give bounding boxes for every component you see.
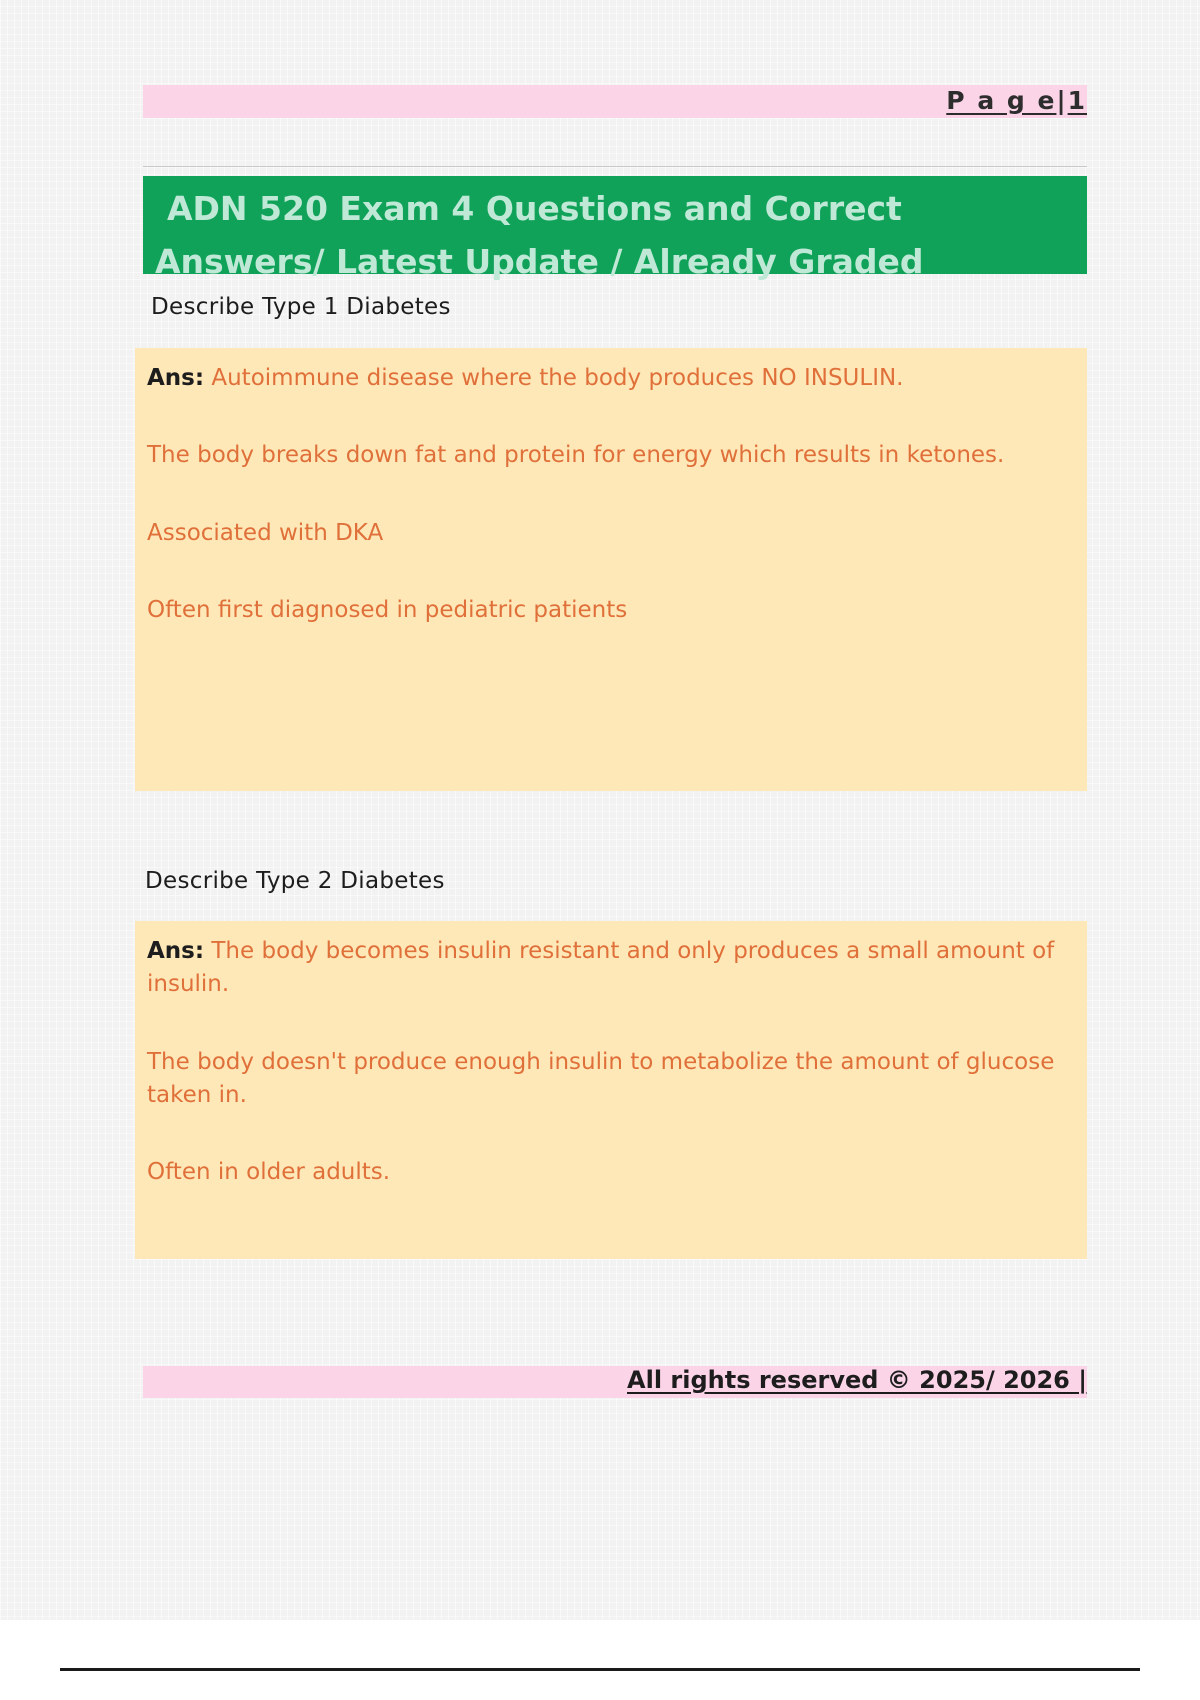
answer-1-paragraph-1: Ans: Autoimmune disease where the body p… — [147, 362, 1063, 395]
answer-1-paragraph-3: Associated with DKA — [147, 517, 1063, 550]
page-label: P a g e — [946, 86, 1056, 115]
footer-copyright: All rights reserved © 2025/ 2026 | — [627, 1366, 1087, 1394]
answer-1-paragraph-2: The body breaks down fat and protein for… — [147, 439, 1063, 472]
answer-box-2: Ans: The body becomes insulin resistant … — [135, 921, 1087, 1259]
answer-2-label: Ans: — [147, 938, 204, 964]
header-separator: | — [1056, 86, 1067, 115]
header-divider — [143, 166, 1087, 167]
title-banner: ADN 520 Exam 4 Questions and Correct Ans… — [143, 176, 1087, 274]
bottom-rule — [60, 1668, 1140, 1671]
page-content: P a g e|1 ADN 520 Exam 4 Questions and C… — [143, 0, 1087, 1620]
answer-box-1: Ans: Autoimmune disease where the body p… — [135, 348, 1087, 791]
answer-2-body: Ans: The body becomes insulin resistant … — [141, 935, 1063, 1190]
page-header: P a g e|1 — [946, 86, 1087, 115]
title-line-2: Answers/ Latest Update / Already Graded — [155, 235, 1071, 288]
title-line-1: ADN 520 Exam 4 Questions and Correct — [167, 182, 1071, 235]
page-number: 1 — [1068, 86, 1087, 115]
bottom-white-strip — [0, 1620, 1200, 1700]
answer-2-paragraph-2: The body doesn't produce enough insulin … — [147, 1046, 1063, 1113]
answer-2-paragraph-3: Often in older adults. — [147, 1156, 1063, 1189]
question-2: Describe Type 2 Diabetes — [145, 868, 445, 894]
answer-2-text-1: The body becomes insulin resistant and o… — [147, 938, 1054, 997]
answer-2-paragraph-1: Ans: The body becomes insulin resistant … — [147, 935, 1063, 1002]
document-page: P a g e|1 ADN 520 Exam 4 Questions and C… — [0, 0, 1200, 1620]
answer-1-body: Ans: Autoimmune disease where the body p… — [141, 362, 1063, 627]
answer-1-label: Ans: — [147, 365, 204, 391]
answer-1-paragraph-4: Often first diagnosed in pediatric patie… — [147, 594, 1063, 627]
answer-1-text-1: Autoimmune disease where the body produc… — [211, 365, 903, 391]
question-1: Describe Type 1 Diabetes — [151, 294, 451, 320]
